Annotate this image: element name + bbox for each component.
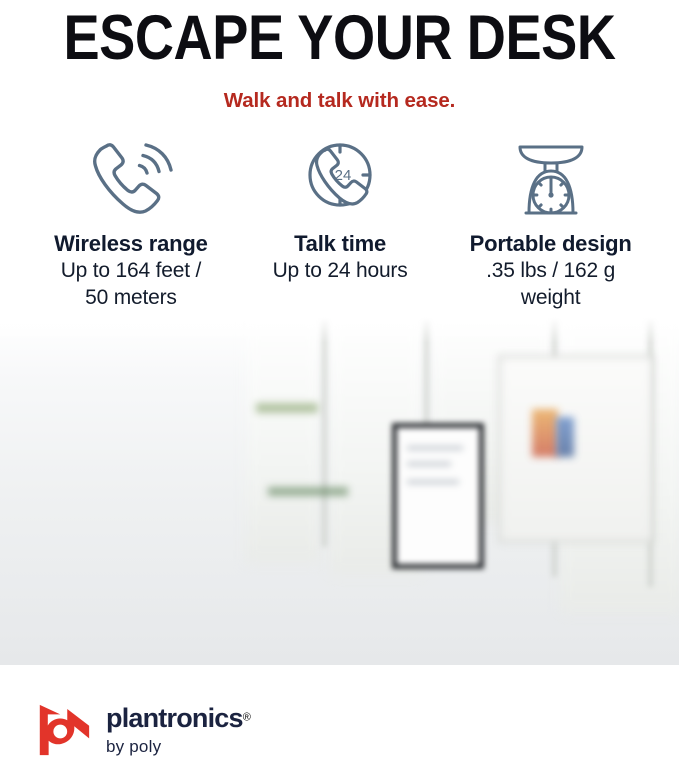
logo-wordmark: plantronics	[106, 703, 243, 733]
page-title: ESCAPE YOUR DESK	[48, 2, 632, 70]
clock-hours-label: 24	[335, 167, 352, 184]
wall-note	[532, 409, 558, 457]
logo-text-block: plantronics® by poly	[106, 705, 251, 755]
registered-trademark-icon: ®	[243, 712, 251, 724]
framed-poster	[392, 423, 484, 569]
feature-talk-time: 24 Talk time Up to 24 hours	[244, 135, 436, 284]
feature-title: Wireless range	[22, 230, 240, 257]
phone-handset-waves-icon	[22, 135, 240, 221]
feature-list: Wireless range Up to 164 feet / 50 meter…	[0, 135, 679, 311]
feature-description-line2: 50 meters	[22, 285, 240, 311]
hero-text-block: ESCAPE YOUR DESK Walk and talk with ease…	[0, 0, 679, 113]
photo-top-fade	[0, 317, 679, 343]
office-scene	[0, 317, 679, 665]
logo-tagline: by poly	[106, 738, 251, 755]
foliage-blur	[268, 487, 348, 496]
feature-wireless-range: Wireless range Up to 164 feet / 50 meter…	[18, 135, 244, 311]
phone-handset-clock-24-icon: 24	[248, 135, 432, 221]
wall-note	[556, 417, 574, 457]
hero-subtitle: Walk and talk with ease.	[0, 89, 679, 113]
feature-title: Portable design	[440, 230, 661, 257]
window-mullion	[322, 317, 327, 547]
feature-title: Talk time	[248, 230, 432, 257]
marketing-product-banner: ESCAPE YOUR DESK Walk and talk with ease…	[0, 0, 679, 768]
product-lifestyle-photo	[0, 317, 679, 665]
weighing-scale-icon	[440, 135, 661, 221]
feature-description-line1: Up to 24 hours	[248, 258, 432, 284]
foliage-blur	[256, 403, 318, 413]
feature-description-line2: weight	[440, 285, 661, 311]
window-panel	[246, 317, 320, 563]
feature-portable-design: Portable design .35 lbs / 162 g weight	[436, 135, 665, 311]
brand-logo: plantronics® by poly	[0, 692, 679, 768]
plantronics-p-mark-icon	[36, 703, 92, 757]
feature-description-line1: .35 lbs / 162 g	[440, 258, 661, 284]
whiteboard	[498, 355, 654, 543]
feature-description-line1: Up to 164 feet /	[22, 258, 240, 284]
